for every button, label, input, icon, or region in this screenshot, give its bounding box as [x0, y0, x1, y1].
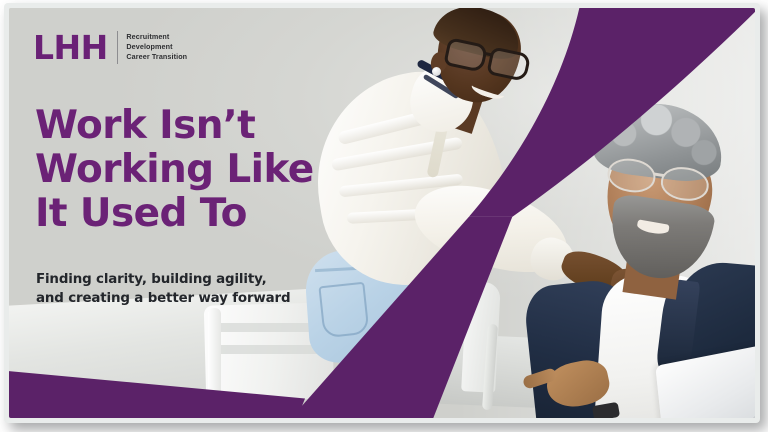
lhh-logo[interactable]: LHH Recruitment Development Career Trans…	[33, 31, 187, 64]
page-title: Work Isn’t Working Like It Used To	[35, 104, 365, 236]
headline-line-1: Work Isn’t	[35, 104, 365, 148]
logo-tagline-line-3: Career Transition	[126, 53, 187, 61]
headline-line-2: Working Like	[35, 148, 365, 192]
page-subtitle: Finding clarity, building agility, and c…	[36, 270, 336, 308]
logo-wordmark: LHH	[33, 31, 108, 64]
logo-tagline-line-2: Development	[126, 43, 187, 51]
headline-line-3: It Used To	[35, 192, 365, 236]
logo-tagline: Recruitment Development Career Transitio…	[126, 33, 187, 61]
subhead-line-1: Finding clarity, building agility,	[36, 270, 336, 289]
slide-card-frame: LHH Recruitment Development Career Trans…	[4, 3, 760, 423]
slide-root: LHH Recruitment Development Career Trans…	[0, 0, 768, 432]
logo-divider-rule	[117, 31, 119, 64]
logo-tagline-line-1: Recruitment	[126, 33, 187, 41]
slide-content-layer: LHH Recruitment Development Career Trans…	[9, 8, 755, 418]
subhead-line-2: and creating a better way forward	[36, 289, 336, 308]
slide-card-inner: LHH Recruitment Development Career Trans…	[9, 8, 755, 418]
